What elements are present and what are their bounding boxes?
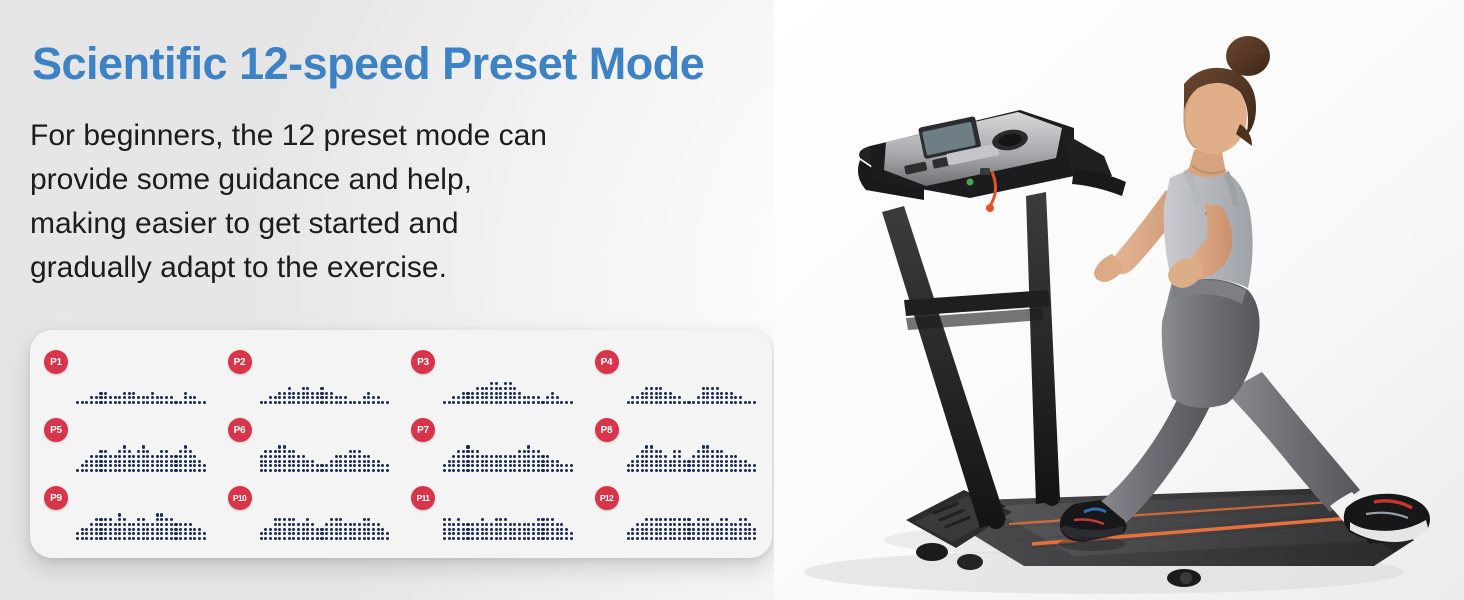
pattern-dot (283, 518, 286, 521)
pattern-column (476, 387, 479, 404)
preset-cell-p9[interactable]: P9 (34, 480, 218, 548)
pattern-dot (99, 464, 102, 467)
pattern-column (367, 455, 370, 472)
pattern-dot (160, 401, 163, 404)
pattern-dot (198, 469, 201, 472)
pattern-dot (278, 455, 281, 458)
pattern-dot (377, 532, 380, 535)
pattern-dot (325, 528, 328, 531)
pattern-dot (673, 464, 676, 467)
pattern-dot (730, 532, 733, 535)
pattern-column (565, 464, 568, 472)
pattern-dot (556, 532, 559, 535)
pattern-column (142, 445, 145, 472)
pattern-dot (720, 532, 723, 535)
pattern-dot (541, 537, 544, 540)
pattern-dot (518, 455, 521, 458)
pattern-dot (306, 537, 309, 540)
pattern-column (481, 518, 484, 540)
pattern-dot (90, 396, 93, 399)
pattern-dot (109, 464, 112, 467)
pattern-dot (716, 460, 719, 463)
pattern-column (650, 387, 653, 404)
pattern-dot (372, 396, 375, 399)
pattern-dot (325, 537, 328, 540)
pattern-dot (302, 387, 305, 390)
preset-cell-p3[interactable]: P3 (401, 344, 585, 412)
pattern-column (720, 392, 723, 404)
pattern-dot (132, 396, 135, 399)
pattern-column (363, 518, 366, 540)
pattern-column (556, 396, 559, 404)
pattern-column (720, 518, 723, 540)
pattern-column (99, 392, 102, 404)
pattern-dot (744, 537, 747, 540)
pattern-column (697, 450, 700, 472)
pattern-dot (560, 469, 563, 472)
pattern-dot (174, 401, 177, 404)
pattern-column (523, 523, 526, 540)
pattern-column (311, 392, 314, 404)
pattern-column (485, 387, 488, 404)
pattern-column (142, 396, 145, 404)
pattern-dot (264, 537, 267, 540)
preset-pattern-p10 (260, 494, 390, 540)
pattern-dot (363, 396, 366, 399)
pattern-dot (748, 401, 751, 404)
pattern-column (560, 401, 563, 404)
pattern-column (499, 455, 502, 472)
pattern-dot (128, 396, 131, 399)
pattern-dot (753, 532, 756, 535)
pattern-dot (372, 401, 375, 404)
pattern-dot (730, 401, 733, 404)
preset-pattern-p1 (76, 358, 206, 404)
pattern-column (339, 455, 342, 472)
pattern-dot (462, 455, 465, 458)
pattern-dot (274, 518, 277, 521)
pattern-dot (170, 532, 173, 535)
pattern-dot (99, 460, 102, 463)
pattern-dot (518, 396, 521, 399)
pattern-column (702, 445, 705, 472)
pattern-column (481, 455, 484, 472)
pattern-column (518, 450, 521, 472)
pattern-column (76, 401, 79, 404)
pattern-dot (457, 518, 460, 521)
pattern-dot (659, 450, 662, 453)
preset-cell-p2[interactable]: P2 (218, 344, 402, 412)
pattern-dot (509, 469, 512, 472)
pattern-dot (730, 523, 733, 526)
pattern-dot (104, 523, 107, 526)
pattern-dot (734, 532, 737, 535)
pattern-dot (170, 396, 173, 399)
pattern-column (372, 460, 375, 472)
pattern-dot (716, 455, 719, 458)
pattern-column (109, 455, 112, 472)
pattern-dot (541, 460, 544, 463)
pattern-dot (532, 464, 535, 467)
pattern-dot (702, 460, 705, 463)
pattern-dot (641, 528, 644, 531)
pattern-dot (278, 518, 281, 521)
pattern-dot (109, 537, 112, 540)
pattern-dot (118, 396, 121, 399)
pattern-dot (481, 464, 484, 467)
pattern-dot (457, 469, 460, 472)
pattern-dot (565, 537, 568, 540)
pattern-dot (179, 537, 182, 540)
pattern-dot (541, 528, 544, 531)
pattern-dot (518, 464, 521, 467)
pattern-dot (283, 537, 286, 540)
pattern-dot (546, 464, 549, 467)
pattern-dot (659, 455, 662, 458)
pattern-dot (495, 382, 498, 385)
pattern-dot (499, 392, 502, 395)
pattern-dot (193, 537, 196, 540)
pattern-dot (471, 537, 474, 540)
pattern-dot (532, 460, 535, 463)
pattern-column (744, 518, 747, 540)
pattern-dot (706, 518, 709, 521)
pattern-dot (306, 469, 309, 472)
pattern-dot (659, 523, 662, 526)
pattern-column (546, 455, 549, 472)
pattern-dot (264, 464, 267, 467)
pattern-dot (471, 469, 474, 472)
pattern-dot (485, 523, 488, 526)
pattern-dot (641, 523, 644, 526)
pattern-dot (339, 523, 342, 526)
pattern-dot (499, 464, 502, 467)
pattern-dot (372, 469, 375, 472)
pattern-dot (673, 537, 676, 540)
pattern-column (128, 523, 131, 540)
pattern-dot (335, 460, 338, 463)
pattern-dot (527, 528, 530, 531)
pattern-dot (104, 392, 107, 395)
pattern-dot (260, 401, 263, 404)
pattern-dot (499, 460, 502, 463)
pattern-dot (476, 450, 479, 453)
pattern-dot (692, 532, 695, 535)
pattern-dot (381, 464, 384, 467)
pattern-dot (90, 469, 93, 472)
pattern-dot (466, 455, 469, 458)
pattern-dot (706, 528, 709, 531)
pattern-dot (702, 537, 705, 540)
pattern-dot (697, 532, 700, 535)
pattern-dot (443, 532, 446, 535)
pattern-column (114, 523, 117, 540)
pattern-column (448, 518, 451, 540)
pattern-dot (537, 455, 540, 458)
pattern-dot (485, 401, 488, 404)
pattern-dot (457, 523, 460, 526)
pattern-dot (193, 396, 196, 399)
pattern-column (353, 450, 356, 472)
pattern-dot (99, 523, 102, 526)
pattern-dot (198, 464, 201, 467)
pattern-dot (702, 455, 705, 458)
pattern-dot (636, 460, 639, 463)
pattern-column (527, 445, 530, 472)
pattern-dot (123, 464, 126, 467)
pattern-dot (697, 537, 700, 540)
pattern-dot (85, 528, 88, 531)
pattern-dot (739, 528, 742, 531)
pattern-dot (367, 537, 370, 540)
pattern-dot (292, 464, 295, 467)
pattern-dot (339, 396, 342, 399)
pattern-dot (664, 532, 667, 535)
pattern-dot (734, 523, 737, 526)
pattern-dot (198, 460, 201, 463)
pattern-column (269, 396, 272, 404)
preset-cell-p8[interactable]: P8 (585, 412, 769, 480)
pattern-dot (165, 469, 168, 472)
pattern-column (673, 396, 676, 404)
pattern-dot (711, 528, 714, 531)
pattern-dot (509, 387, 512, 390)
pattern-dot (711, 464, 714, 467)
pattern-dot (452, 523, 455, 526)
pattern-dot (650, 455, 653, 458)
pattern-column (118, 450, 121, 472)
pattern-column (109, 396, 112, 404)
pattern-column (471, 450, 474, 472)
pattern-column (372, 396, 375, 404)
pattern-column (471, 523, 474, 540)
pattern-dot (631, 537, 634, 540)
pattern-dot (128, 532, 131, 535)
pattern-dot (518, 528, 521, 531)
pattern-dot (655, 392, 658, 395)
pattern-dot (509, 532, 512, 535)
preset-badge-p11: P11 (411, 486, 435, 510)
pattern-dot (189, 396, 192, 399)
pattern-column (81, 401, 84, 404)
pattern-dot (702, 532, 705, 535)
preset-cell-p7[interactable]: P7 (401, 412, 585, 480)
pattern-dot (673, 401, 676, 404)
preset-cell-p5[interactable]: P5 (34, 412, 218, 480)
pattern-dot (146, 469, 149, 472)
pattern-dot (532, 455, 535, 458)
pattern-dot (302, 532, 305, 535)
pattern-dot (358, 464, 361, 467)
pattern-dot (650, 450, 653, 453)
pattern-dot (753, 528, 756, 531)
pattern-dot (302, 464, 305, 467)
pattern-dot (650, 460, 653, 463)
pattern-dot (513, 387, 516, 390)
pattern-dot (706, 401, 709, 404)
pattern-column (730, 523, 733, 540)
pattern-column (631, 460, 634, 472)
pattern-column (518, 523, 521, 540)
pattern-dot (669, 392, 672, 395)
pattern-dot (109, 460, 112, 463)
preset-pattern-p5 (76, 426, 206, 472)
pattern-dot (132, 532, 135, 535)
pattern-dot (137, 464, 140, 467)
pattern-column (297, 392, 300, 404)
pattern-column (687, 460, 690, 472)
preset-cell-p11[interactable]: P11 (401, 480, 585, 548)
pattern-dot (274, 537, 277, 540)
pattern-column (160, 450, 163, 472)
pattern-dot (631, 528, 634, 531)
pattern-dot (462, 460, 465, 463)
pattern-dot (292, 450, 295, 453)
pattern-dot (476, 392, 479, 395)
pattern-dot (673, 469, 676, 472)
pattern-dot (664, 523, 667, 526)
pattern-dot (367, 396, 370, 399)
pattern-dot (448, 523, 451, 526)
pattern-dot (349, 464, 352, 467)
pattern-dot (137, 450, 140, 453)
pattern-dot (697, 455, 700, 458)
pattern-dot (711, 450, 714, 453)
pattern-dot (377, 464, 380, 467)
pattern-dot (471, 450, 474, 453)
pattern-dot (711, 523, 714, 526)
pattern-dot (546, 532, 549, 535)
pattern-dot (513, 392, 516, 395)
pattern-dot (367, 518, 370, 521)
pattern-dot (320, 469, 323, 472)
pattern-column (734, 396, 737, 404)
pattern-dot (541, 401, 544, 404)
pattern-column (278, 518, 281, 540)
pattern-dot (179, 532, 182, 535)
pattern-dot (504, 464, 507, 467)
pattern-dot (118, 518, 121, 521)
pattern-dot (292, 528, 295, 531)
preset-cell-p4[interactable]: P4 (585, 344, 769, 412)
pattern-dot (650, 518, 653, 521)
pattern-dot (260, 532, 263, 535)
pattern-dot (551, 392, 554, 395)
preset-cell-p1[interactable]: P1 (34, 344, 218, 412)
pattern-dot (288, 387, 291, 390)
pattern-column (160, 396, 163, 404)
pattern-dot (184, 537, 187, 540)
preset-cell-p6[interactable]: P6 (218, 412, 402, 480)
pattern-dot (302, 396, 305, 399)
pattern-dot (485, 387, 488, 390)
pattern-dot (481, 455, 484, 458)
pattern-column (504, 518, 507, 540)
pattern-dot (504, 469, 507, 472)
pattern-dot (509, 396, 512, 399)
pattern-dot (537, 469, 540, 472)
preset-cell-p12[interactable]: P12 (585, 480, 769, 548)
pattern-dot (274, 464, 277, 467)
pattern-dot (678, 460, 681, 463)
pattern-dot (198, 537, 201, 540)
pattern-column (381, 528, 384, 540)
pattern-column (156, 396, 159, 404)
pattern-dot (527, 469, 530, 472)
preset-cell-p10[interactable]: P10 (218, 480, 402, 548)
pattern-dot (316, 469, 319, 472)
pattern-dot (537, 396, 540, 399)
pattern-dot (481, 469, 484, 472)
pattern-dot (556, 537, 559, 540)
pattern-dot (363, 518, 366, 521)
pattern-column (353, 523, 356, 540)
pattern-dot (165, 523, 168, 526)
pattern-dot (146, 401, 149, 404)
pattern-column (537, 450, 540, 472)
pattern-dot (142, 528, 145, 531)
pattern-dot (527, 401, 530, 404)
pattern-dot (118, 401, 121, 404)
pattern-dot (669, 464, 672, 467)
pattern-dot (81, 532, 84, 535)
pattern-dot (570, 464, 573, 467)
pattern-dot (174, 528, 177, 531)
pattern-dot (316, 401, 319, 404)
pattern-dot (151, 523, 154, 526)
pattern-dot (697, 460, 700, 463)
pattern-dot (537, 523, 540, 526)
pattern-dot (160, 532, 163, 535)
pattern-dot (123, 445, 126, 448)
pattern-column (203, 532, 206, 540)
pattern-dot (504, 523, 507, 526)
pattern-dot (570, 532, 573, 535)
pattern-dot (320, 464, 323, 467)
pattern-dot (269, 401, 272, 404)
pattern-column (725, 455, 728, 472)
pattern-dot (541, 469, 544, 472)
pattern-dot (457, 401, 460, 404)
pattern-dot (95, 532, 98, 535)
pattern-column (452, 396, 455, 404)
pattern-dot (655, 464, 658, 467)
pattern-dot (702, 523, 705, 526)
pattern-dot (546, 460, 549, 463)
pattern-dot (160, 464, 163, 467)
pattern-column (631, 528, 634, 540)
pattern-dot (353, 528, 356, 531)
pattern-dot (527, 460, 530, 463)
pattern-dot (551, 523, 554, 526)
pattern-dot (523, 450, 526, 453)
pattern-column (367, 392, 370, 404)
pattern-dot (504, 532, 507, 535)
preset-pattern-p3 (443, 358, 573, 404)
pattern-column (570, 532, 573, 540)
pattern-dot (283, 396, 286, 399)
pattern-dot (114, 455, 117, 458)
pattern-dot (109, 401, 112, 404)
pattern-column (509, 382, 512, 404)
pattern-dot (692, 464, 695, 467)
pattern-dot (203, 469, 206, 472)
pattern-dot (471, 523, 474, 526)
pattern-dot (335, 537, 338, 540)
pattern-dot (720, 528, 723, 531)
pattern-dot (151, 528, 154, 531)
pattern-dot (288, 455, 291, 458)
